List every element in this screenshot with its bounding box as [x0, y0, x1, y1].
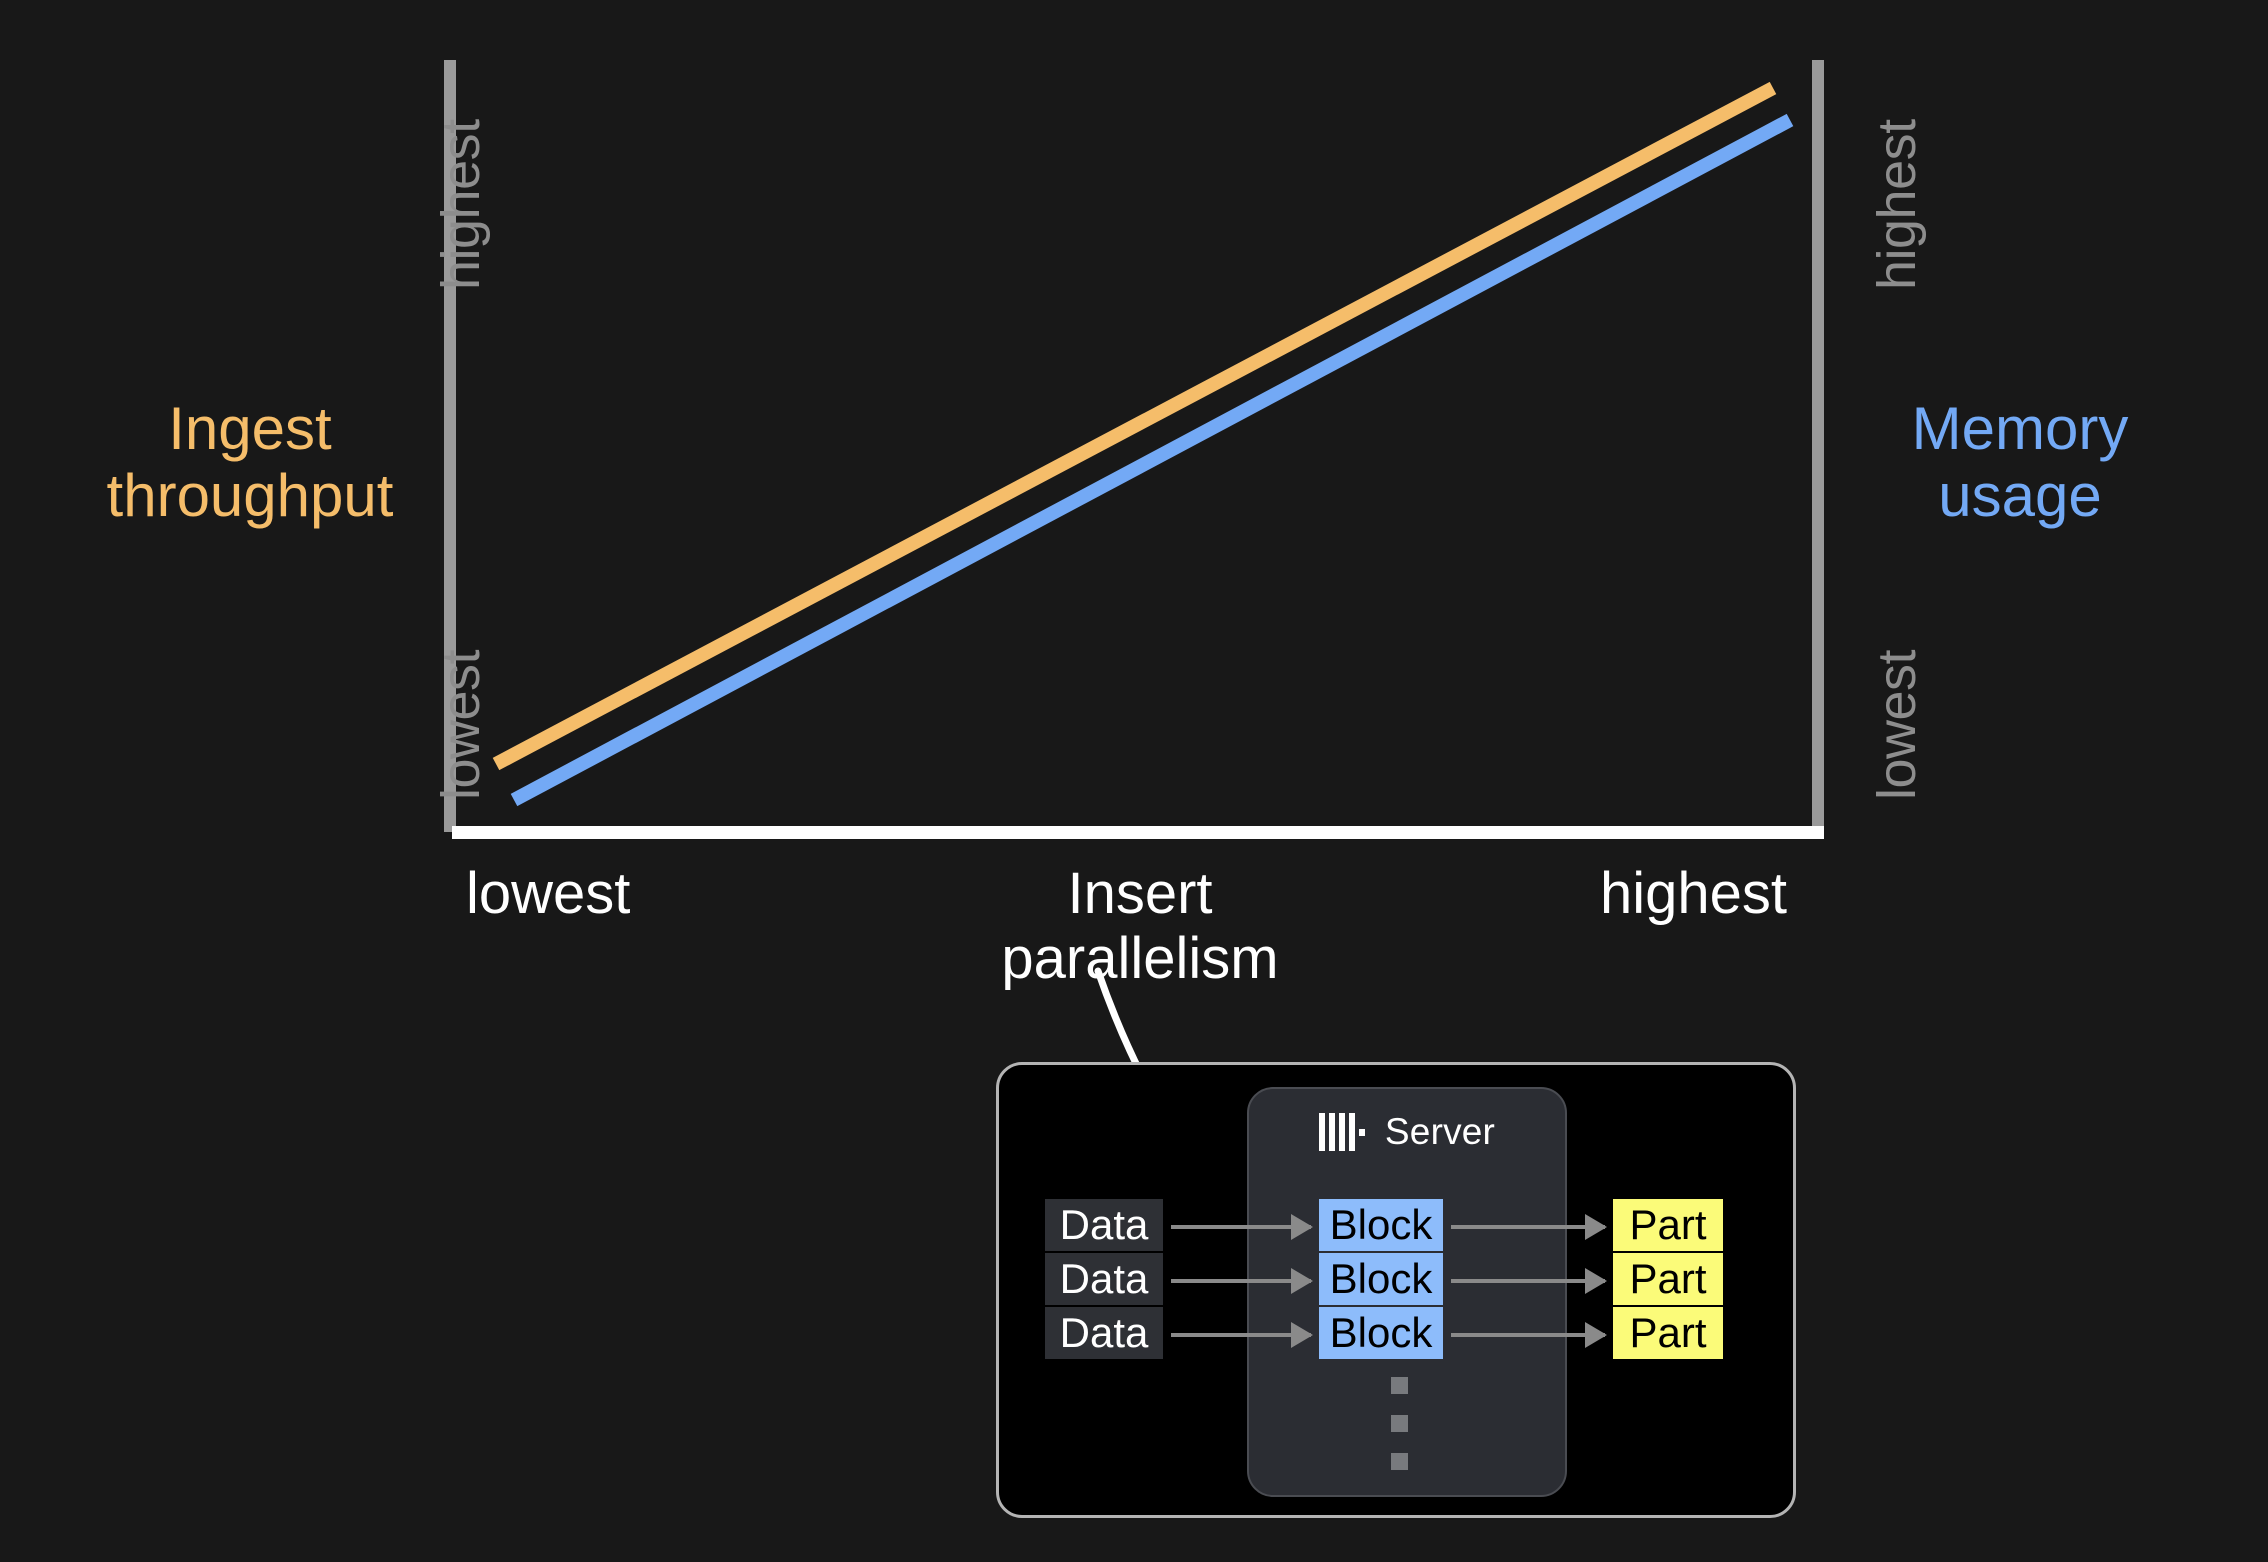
right-axis-tick-lowest: lowest	[1866, 650, 1928, 800]
arrow-data-to-block	[1171, 1225, 1311, 1229]
series-line-ingest-throughput	[496, 88, 1773, 764]
left-axis-title: Ingest throughput	[80, 395, 420, 529]
right-axis-line	[1812, 60, 1824, 832]
arrow-block-to-part	[1451, 1333, 1605, 1337]
data-chip: Data	[1045, 1307, 1163, 1359]
ellipsis-dot	[1391, 1453, 1408, 1470]
chart-area: highest lowest highest lowest Ingest thr…	[0, 0, 2268, 1010]
server-header: Server	[1249, 1111, 1565, 1153]
series-line-memory-usage	[514, 120, 1790, 800]
ellipsis-dot	[1391, 1415, 1408, 1432]
vertical-ellipsis-icon	[1391, 1377, 1409, 1491]
x-axis-tick-highest: highest	[1600, 860, 1787, 927]
pipeline-row: Data Block Part	[999, 1199, 1799, 1255]
right-axis-title: Memory usage	[1840, 395, 2200, 529]
part-chip: Part	[1613, 1253, 1723, 1305]
right-axis-tick-highest: highest	[1866, 119, 1928, 290]
part-chip: Part	[1613, 1199, 1723, 1251]
block-chip: Block	[1319, 1199, 1443, 1251]
pipeline-row: Data Block Part	[999, 1307, 1799, 1363]
pipeline-row: Data Block Part	[999, 1253, 1799, 1309]
x-axis-tick-lowest: lowest	[466, 860, 630, 927]
arrow-data-to-block	[1171, 1333, 1311, 1337]
ellipsis-dot	[1391, 1377, 1408, 1394]
left-axis-tick-highest: highest	[430, 119, 492, 290]
arrow-block-to-part	[1451, 1225, 1605, 1229]
part-chip: Part	[1613, 1307, 1723, 1359]
arrow-block-to-part	[1451, 1279, 1605, 1283]
server-label: Server	[1385, 1111, 1495, 1153]
x-axis-line	[452, 826, 1824, 839]
x-axis-title: Insert parallelism	[930, 862, 1350, 992]
data-chip: Data	[1045, 1253, 1163, 1305]
data-chip: Data	[1045, 1199, 1163, 1251]
clickhouse-bars-logo-icon	[1319, 1113, 1369, 1151]
block-chip: Block	[1319, 1253, 1443, 1305]
block-chip: Block	[1319, 1307, 1443, 1359]
left-axis-tick-lowest: lowest	[430, 650, 492, 800]
ingest-pipeline-diagram: Server Data Block Part Data Block Part D…	[996, 1062, 1796, 1518]
arrow-data-to-block	[1171, 1279, 1311, 1283]
